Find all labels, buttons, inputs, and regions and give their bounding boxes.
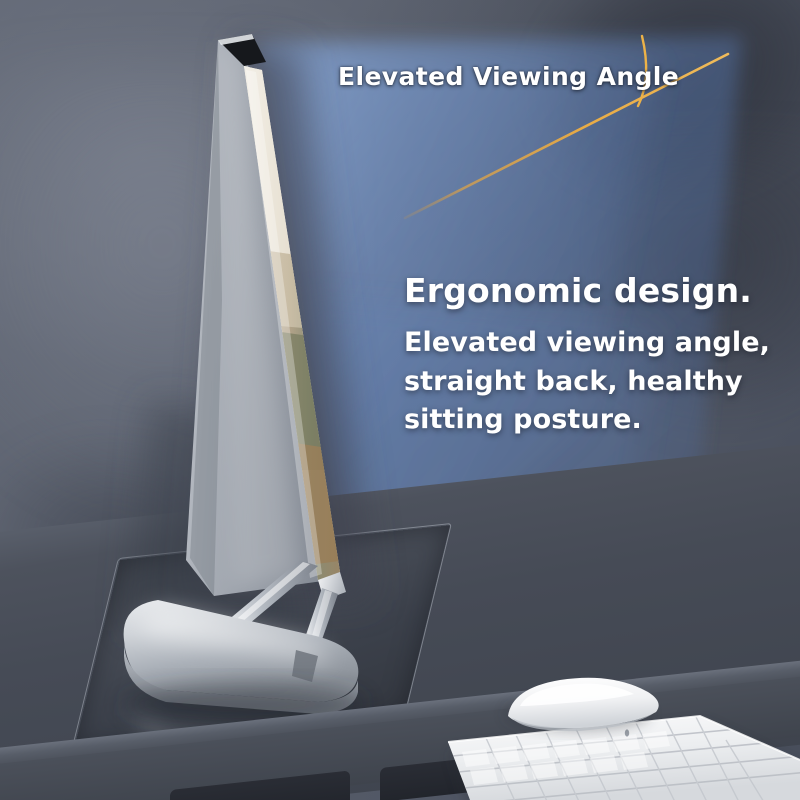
product-marketing-scene: Elevated Viewing Angle Ergonomic design.… — [0, 0, 800, 800]
copy-body: Elevated viewing angle, straight back, h… — [404, 324, 788, 439]
elevated-viewing-angle-title: Elevated Viewing Angle — [338, 62, 679, 91]
copy-body-line-3: sitting posture. — [404, 401, 788, 439]
marketing-copy-block: Ergonomic design. Elevated viewing angle… — [404, 272, 788, 439]
copy-body-line-2: straight back, healthy — [404, 363, 788, 401]
copy-headline: Ergonomic design. — [404, 272, 788, 310]
copy-body-line-1: Elevated viewing angle, — [404, 324, 788, 362]
